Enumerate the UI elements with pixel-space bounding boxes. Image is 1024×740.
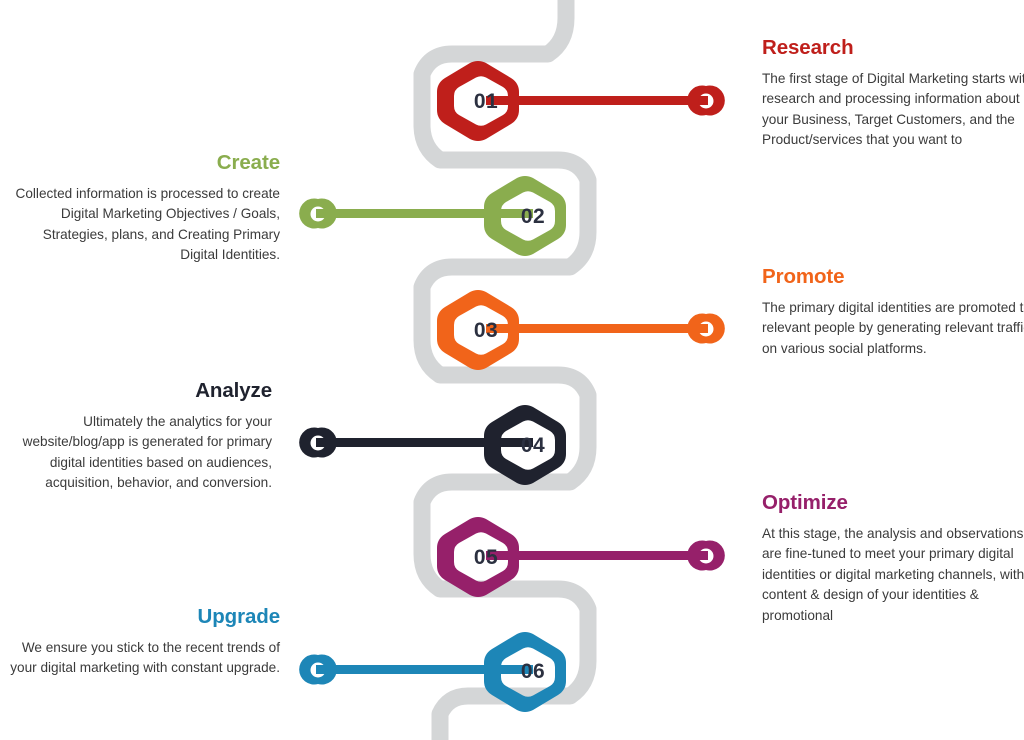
node-06-hex xyxy=(484,632,566,712)
node-02-endpoint xyxy=(299,198,337,228)
node-02-stem xyxy=(316,209,533,218)
node-03-stem xyxy=(486,324,708,333)
node-05-number: 05 xyxy=(474,546,498,569)
node-05-stem xyxy=(486,551,708,560)
node-03-hex xyxy=(437,290,519,370)
node-01-number: 01 xyxy=(474,90,498,113)
node-05-endpoint xyxy=(687,541,725,571)
step-text-upgrade: Upgrade We ensure you stick to the recen… xyxy=(8,605,280,679)
step-description-upgrade: We ensure you stick to the recent trends… xyxy=(8,638,280,679)
node-01-hex xyxy=(437,61,519,141)
node-04-stem xyxy=(316,438,533,447)
step-title-create: Create xyxy=(8,151,280,175)
node-04-hex xyxy=(484,405,566,485)
step-description-promote: The primary digital identities are promo… xyxy=(762,298,1024,360)
process-infographic: 01 02 03 04 05 xyxy=(0,0,1024,740)
step-text-optimize: Optimize At this stage, the analysis and… xyxy=(762,491,1024,627)
step-title-analyze: Analyze xyxy=(0,379,272,403)
step-title-optimize: Optimize xyxy=(762,491,1024,515)
timeline-track xyxy=(422,0,588,740)
node-03-number: 03 xyxy=(474,319,498,342)
node-05-hex xyxy=(437,517,519,597)
node-03-endpoint xyxy=(687,314,725,344)
step-text-promote: Promote The primary digital identities a… xyxy=(762,265,1024,359)
node-02-number: 02 xyxy=(521,205,545,228)
step-text-research: Research The first stage of Digital Mark… xyxy=(762,36,1024,151)
step-description-analyze: Ultimately the analytics for your websit… xyxy=(0,412,272,494)
step-description-research: The first stage of Digital Marketing sta… xyxy=(762,69,1024,151)
node-04-number: 04 xyxy=(521,434,545,457)
node-01-endpoint xyxy=(687,85,725,115)
node-01-stem xyxy=(486,96,708,105)
step-description-create: Collected information is processed to cr… xyxy=(8,184,280,266)
step-text-create: Create Collected information is processe… xyxy=(8,151,280,266)
step-title-upgrade: Upgrade xyxy=(8,605,280,629)
node-02[interactable]: 02 xyxy=(299,176,566,256)
node-04-endpoint xyxy=(299,428,337,458)
node-06-number: 06 xyxy=(521,660,545,683)
step-text-analyze: Analyze Ultimately the analytics for you… xyxy=(0,379,272,494)
node-06-stem xyxy=(316,665,533,674)
node-03[interactable]: 03 xyxy=(437,290,725,370)
step-title-research: Research xyxy=(762,36,1024,60)
step-description-optimize: At this stage, the analysis and observat… xyxy=(762,524,1024,627)
node-04[interactable]: 04 xyxy=(299,405,566,485)
node-05[interactable]: 05 xyxy=(437,517,725,597)
node-06-endpoint xyxy=(299,655,337,685)
node-02-hex xyxy=(484,176,566,256)
node-06[interactable]: 06 xyxy=(299,632,566,712)
node-01[interactable]: 01 xyxy=(437,61,725,141)
step-title-promote: Promote xyxy=(762,265,1024,289)
